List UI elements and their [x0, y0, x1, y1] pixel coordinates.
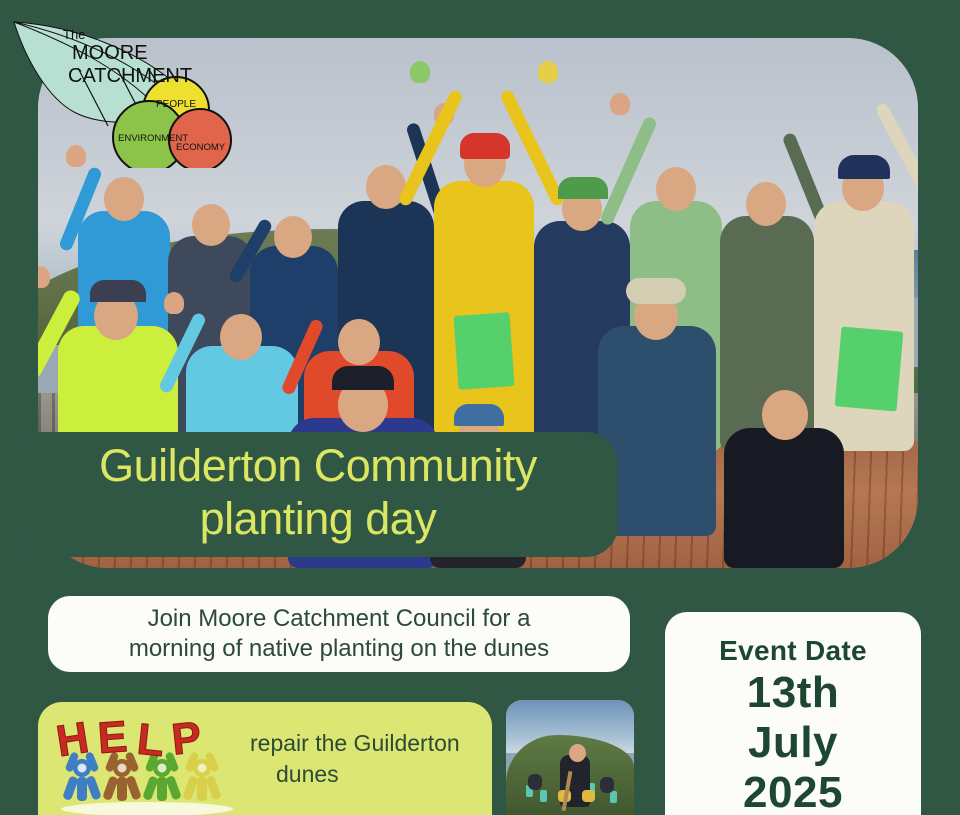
- thumb-helper: [600, 777, 614, 793]
- figure-head: [274, 216, 312, 258]
- figure-head: [746, 182, 786, 226]
- figure-head: [104, 177, 144, 221]
- help-illustration: H E L P: [52, 708, 242, 815]
- tree-guard: [610, 791, 617, 803]
- logo-line-catchment: CATCHMENT: [68, 65, 192, 87]
- event-date-month: July: [748, 718, 838, 768]
- poster-title-line-2: planting day: [200, 492, 437, 545]
- event-date-card: Event Date 13th July 2025: [665, 612, 921, 815]
- logo-line-the: The: [63, 27, 85, 42]
- help-letter-l: L: [135, 715, 167, 767]
- info-line-1: Join Moore Catchment Council for a: [148, 604, 531, 634]
- event-date-day: 13th: [747, 668, 839, 718]
- event-date-label: Event Date: [719, 634, 867, 668]
- planting-photo-thumbnail: [506, 700, 634, 815]
- figure-cap: [332, 366, 394, 390]
- figure-hand: [164, 292, 184, 314]
- planting-board-prop: [835, 326, 904, 411]
- figure-head: [192, 204, 230, 246]
- logo-circle-label-economy: ECONOMY: [176, 142, 226, 153]
- tree-guard: [540, 790, 547, 802]
- figure-head: [220, 314, 262, 360]
- figure-glove: [538, 61, 558, 83]
- help-text: repair the Guilderton dunes: [250, 728, 488, 790]
- info-line-2: morning of native planting on the dunes: [129, 634, 549, 664]
- volunteer-figure-front: [724, 428, 844, 568]
- help-text-line-2: dunes: [250, 759, 488, 790]
- figure-cap: [558, 177, 608, 199]
- help-letter-e: E: [96, 712, 129, 763]
- poster-title-line-1: Guilderton Community: [99, 439, 537, 492]
- poster-title-banner: Guilderton Community planting day: [18, 432, 618, 557]
- moore-catchment-logo: The MOORE CATCHMENT PEOPLE ENVIRONMENT E…: [8, 8, 238, 168]
- figure-hand: [410, 61, 430, 83]
- figure-beanie: [454, 404, 504, 426]
- figure-beanie: [460, 133, 510, 159]
- figure-cap: [90, 280, 146, 302]
- thumb-volunteer-head: [569, 744, 586, 762]
- figure-head: [656, 167, 696, 211]
- volunteer-figure: [814, 201, 914, 451]
- figure-head: [338, 319, 380, 365]
- figure-beanie: [838, 155, 890, 179]
- logo-circle-label-people: PEOPLE: [156, 99, 196, 110]
- figure-hand: [610, 93, 630, 115]
- event-date-year: 2025: [743, 768, 843, 815]
- figure-head: [762, 390, 808, 440]
- help-box: H E L P repair the Guilderton dunes: [38, 702, 492, 815]
- logo-line-moore: MOORE: [72, 42, 148, 64]
- thumb-glove: [582, 790, 595, 802]
- info-box: Join Moore Catchment Council for a morni…: [48, 596, 630, 672]
- poster-canvas: The MOORE CATCHMENT PEOPLE ENVIRONMENT E…: [0, 0, 960, 815]
- help-letter-h: H: [53, 713, 92, 766]
- help-letter-p: P: [169, 713, 203, 765]
- help-text-line-1: repair the Guilderton: [250, 728, 488, 759]
- thumb-helper: [528, 774, 542, 790]
- figure-hat: [626, 278, 686, 304]
- planting-board-prop: [453, 312, 514, 390]
